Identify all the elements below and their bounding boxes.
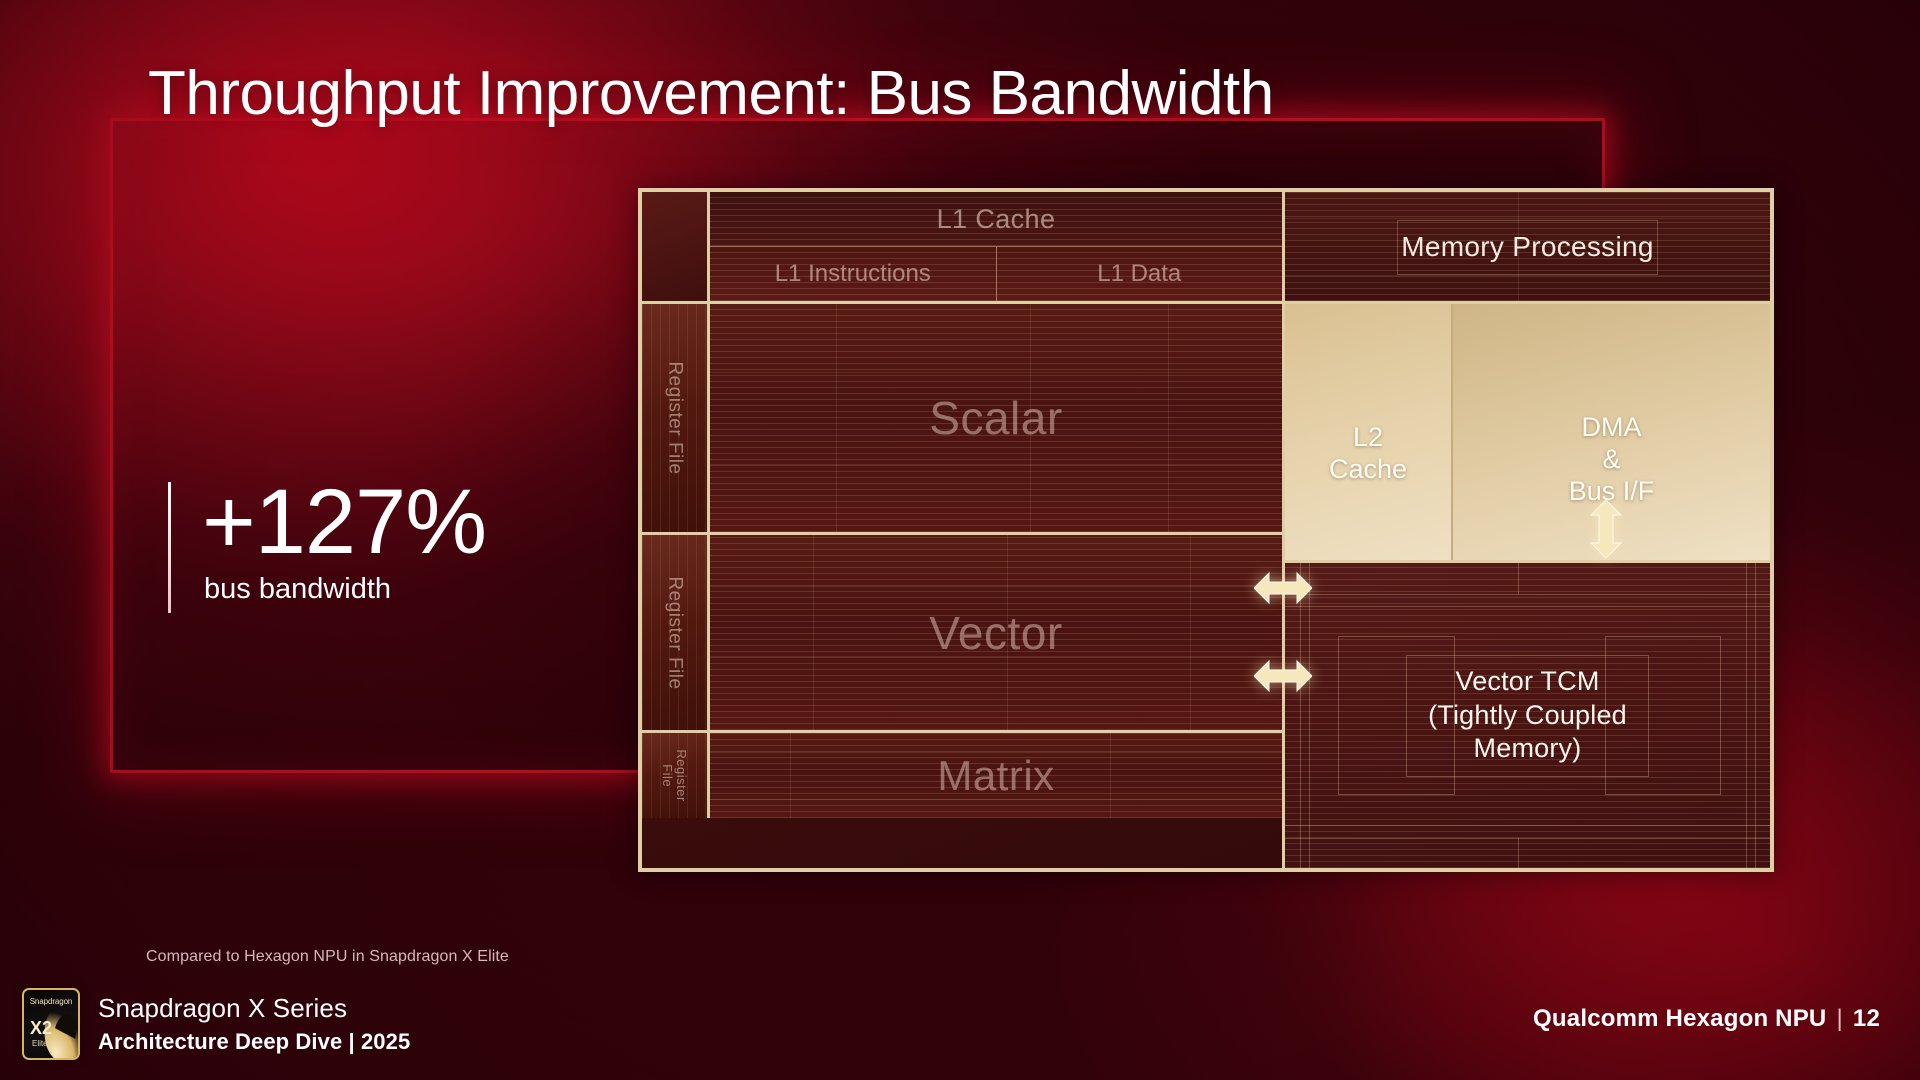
block-l1-cache-label: L1 Cache <box>937 204 1056 235</box>
footer-subtitle-line: Architecture Deep Dive | 2025 <box>98 1029 410 1055</box>
l1-register-stub <box>642 192 710 301</box>
l1-cache-row: L1 Cache L1 Instructions L1 Data <box>642 192 1282 304</box>
register-file-matrix: Register File <box>642 733 710 818</box>
page-title: Throughput Improvement: Bus Bandwidth <box>148 58 1274 129</box>
footer-separator: | <box>1826 1005 1852 1032</box>
memory-middle-row: L2 Cache DMA & Bus I/F <box>1282 304 1770 560</box>
l2-line2: Cache <box>1329 454 1407 486</box>
block-vector-label: Vector <box>929 606 1062 660</box>
block-memory-processing-label: Memory Processing <box>1401 231 1654 263</box>
stat-value: +127% <box>202 476 486 568</box>
register-file-scalar: Register File <box>642 304 710 532</box>
footer-brand-line: Snapdragon X Series <box>98 993 410 1024</box>
tcm-line1: Vector TCM <box>1428 665 1627 699</box>
snapdragon-badge-icon: Snapdragon X2 Elite <box>22 988 80 1060</box>
badge-model: X2 <box>30 1018 52 1039</box>
block-matrix-label: Matrix <box>937 752 1054 800</box>
block-l1-data-label: L1 Data <box>1097 260 1181 288</box>
stat-accent-rule <box>168 482 171 613</box>
block-l2-cache-label: L2 Cache <box>1329 422 1407 486</box>
block-l1-data: L1 Data <box>997 247 1283 301</box>
tcm-line3: Memory) <box>1428 732 1627 766</box>
engine-row-matrix: Register File Matrix <box>642 730 1282 818</box>
matrix-to-tcm-arrow <box>1254 655 1312 697</box>
register-file-scalar-label: Register File <box>664 361 686 474</box>
block-vector: Vector <box>710 535 1282 730</box>
block-vector-tcm: Vector TCM (Tightly Coupled Memory) <box>1282 560 1770 868</box>
stat-caption: bus bandwidth <box>204 573 391 606</box>
block-scalar-label: Scalar <box>929 391 1062 445</box>
diagram-left-column: L1 Cache L1 Instructions L1 Data Registe… <box>642 192 1282 868</box>
footer-right: Qualcomm Hexagon NPU|12 <box>1533 1005 1880 1033</box>
register-file-matrix-label: Register File <box>661 743 688 808</box>
tcm-line2: (Tightly Coupled <box>1428 699 1627 733</box>
register-file-vector: Register File <box>642 535 710 730</box>
dma-to-tcm-arrow <box>1588 500 1624 558</box>
footer-text-block: Snapdragon X Series Architecture Deep Di… <box>98 993 410 1055</box>
footer-left: Snapdragon X2 Elite Snapdragon X Series … <box>22 988 410 1060</box>
block-l2-cache: L2 Cache <box>1285 304 1453 560</box>
block-memory-processing: Memory Processing <box>1282 192 1770 304</box>
footer-right-label: Qualcomm Hexagon NPU <box>1533 1005 1826 1032</box>
l1-sub-row: L1 Instructions L1 Data <box>710 247 1282 301</box>
npu-block-diagram: L1 Cache L1 Instructions L1 Data Registe… <box>638 188 1774 872</box>
page-number: 12 <box>1853 1005 1880 1032</box>
block-matrix: Matrix <box>710 733 1282 818</box>
dma-line1: DMA <box>1569 412 1655 444</box>
diagram-right-column: Memory Processing L2 Cache DMA & Bus I/F <box>1282 192 1770 868</box>
block-scalar: Scalar <box>710 304 1282 532</box>
block-dma-bus-if-label: DMA & Bus I/F <box>1569 412 1655 508</box>
register-file-vector-label: Register File <box>664 576 686 689</box>
badge-top-text: Snapdragon <box>24 997 78 1006</box>
vector-to-tcm-arrow <box>1254 567 1312 609</box>
block-vector-tcm-label: Vector TCM (Tightly Coupled Memory) <box>1428 665 1627 766</box>
footnote: Compared to Hexagon NPU in Snapdragon X … <box>146 948 509 966</box>
engine-row-scalar: Register File Scalar <box>642 304 1282 532</box>
dma-line2: & <box>1569 444 1655 476</box>
block-l1-cache: L1 Cache <box>710 192 1282 247</box>
l2-line1: L2 <box>1329 422 1407 454</box>
block-l1-instructions: L1 Instructions <box>710 247 997 301</box>
block-l1-instructions-label: L1 Instructions <box>775 260 931 288</box>
badge-tier: Elite <box>32 1039 48 1048</box>
engine-row-vector: Register File Vector <box>642 532 1282 730</box>
l1-stack: L1 Cache L1 Instructions L1 Data <box>710 192 1282 301</box>
